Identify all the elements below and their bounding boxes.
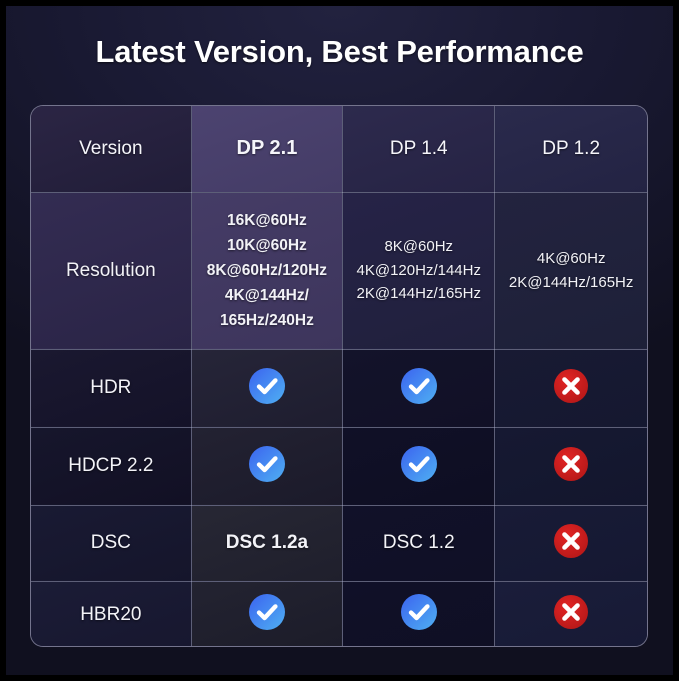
check-circle-icon — [248, 593, 286, 631]
row-label-text: DSC — [91, 532, 131, 553]
header-label-dp14: DP 1.4 — [390, 138, 448, 159]
page-title: Latest Version, Best Performance — [95, 34, 583, 70]
cell-dsc-dp21: DSC 1.2a — [191, 505, 343, 581]
check-circle-icon — [248, 445, 286, 483]
cell-hdr-dp14 — [343, 349, 495, 427]
table-row: HDR — [31, 349, 647, 427]
cell-hdcp-dp12 — [495, 427, 647, 505]
title-bar: Latest Version, Best Performance — [6, 34, 673, 70]
check-circle-icon — [400, 445, 438, 483]
table-row: HBR20 — [31, 581, 647, 647]
cell-hbr20-dp21 — [191, 581, 343, 647]
page-root: Latest Version, Best Performance Version… — [0, 0, 679, 681]
header-cell-dp12: DP 1.2 — [495, 106, 647, 192]
cell-resolution-dp21: 16K@60Hz 10K@60Hz 8K@60Hz/120Hz 4K@144Hz… — [191, 192, 343, 349]
row-label-text: HDR — [90, 377, 131, 398]
resolution-value-dp12: 4K@60Hz 2K@144Hz/165Hz — [509, 250, 633, 291]
cell-hdr-dp12 — [495, 349, 647, 427]
table-row: Resolution 16K@60Hz 10K@60Hz 8K@60Hz/120… — [31, 192, 647, 349]
cell-hdcp-dp21 — [191, 427, 343, 505]
header-label-version: Version — [79, 138, 142, 159]
table-row: DSC DSC 1.2a DSC 1.2 — [31, 505, 647, 581]
cell-hdr-dp21 — [191, 349, 343, 427]
row-label-text: HDCP 2.2 — [68, 455, 153, 476]
cross-circle-icon — [553, 594, 589, 630]
dsc-value-dp14: DSC 1.2 — [383, 532, 455, 553]
dsc-value-dp21: DSC 1.2a — [226, 532, 308, 553]
table-row: HDCP 2.2 — [31, 427, 647, 505]
table-header-row: Version DP 2.1 DP 1.4 DP 1.2 — [31, 106, 647, 192]
spec-comparison-table: Version DP 2.1 DP 1.4 DP 1.2 — [30, 105, 648, 647]
poster-canvas: Latest Version, Best Performance Version… — [6, 6, 673, 675]
spec-table: Version DP 2.1 DP 1.4 DP 1.2 — [31, 106, 647, 647]
cross-circle-icon — [553, 523, 589, 559]
check-circle-icon — [248, 367, 286, 405]
row-label-hdcp: HDCP 2.2 — [31, 427, 191, 505]
resolution-value-dp21: 16K@60Hz 10K@60Hz 8K@60Hz/120Hz 4K@144Hz… — [207, 212, 327, 329]
cross-circle-icon — [553, 446, 589, 482]
cell-hbr20-dp14 — [343, 581, 495, 647]
row-label-text: Resolution — [66, 260, 156, 281]
cell-hdcp-dp14 — [343, 427, 495, 505]
resolution-value-dp14: 8K@60Hz 4K@120Hz/144Hz 2K@144Hz/165Hz — [357, 238, 481, 302]
cell-dsc-dp14: DSC 1.2 — [343, 505, 495, 581]
cell-hbr20-dp12 — [495, 581, 647, 647]
cell-resolution-dp14: 8K@60Hz 4K@120Hz/144Hz 2K@144Hz/165Hz — [343, 192, 495, 349]
cross-circle-icon — [553, 368, 589, 404]
row-label-hdr: HDR — [31, 349, 191, 427]
cell-resolution-dp12: 4K@60Hz 2K@144Hz/165Hz — [495, 192, 647, 349]
header-label-dp21: DP 2.1 — [237, 137, 298, 159]
header-cell-version: Version — [31, 106, 191, 192]
row-label-text: HBR20 — [80, 604, 141, 625]
check-circle-icon — [400, 367, 438, 405]
header-cell-dp21: DP 2.1 — [191, 106, 343, 192]
header-label-dp12: DP 1.2 — [542, 138, 600, 159]
cell-dsc-dp12 — [495, 505, 647, 581]
row-label-dsc: DSC — [31, 505, 191, 581]
header-cell-dp14: DP 1.4 — [343, 106, 495, 192]
row-label-resolution: Resolution — [31, 192, 191, 349]
row-label-hbr20: HBR20 — [31, 581, 191, 647]
check-circle-icon — [400, 593, 438, 631]
